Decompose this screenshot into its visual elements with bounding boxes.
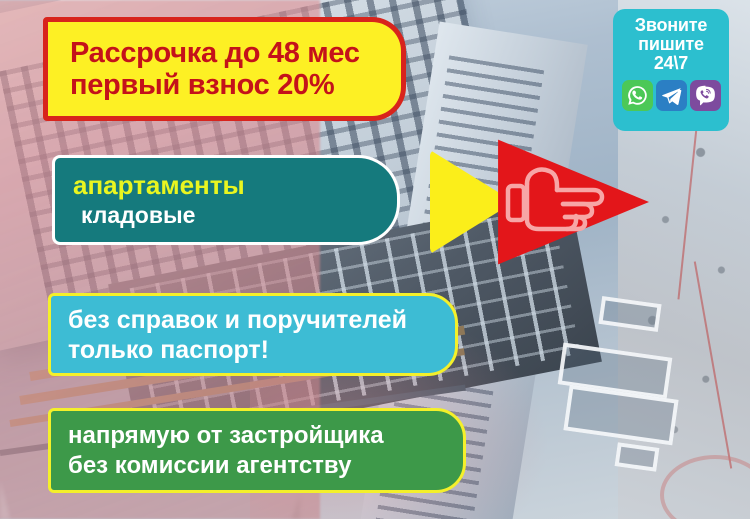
contact-line1: Звоните bbox=[635, 16, 707, 35]
terms-box: без справок и поручителей только паспорт… bbox=[48, 293, 458, 376]
messenger-icon-row bbox=[622, 80, 721, 111]
contact-line3: 24\7 bbox=[654, 54, 688, 73]
developer-line1: напрямую от застройщика bbox=[68, 421, 463, 450]
terms-line2: только паспорт! bbox=[68, 335, 455, 365]
property-type-apartments: апартаменты bbox=[73, 171, 397, 201]
property-types-box: апартаменты кладовые bbox=[52, 155, 400, 245]
offer-banner-line1: Рассрочка до 48 мес bbox=[70, 37, 401, 69]
terms-line1: без справок и поручителей bbox=[68, 305, 455, 335]
telegram-icon[interactable] bbox=[656, 80, 687, 111]
offer-banner: Рассрочка до 48 мес первый взнос 20% bbox=[43, 17, 406, 121]
developer-line2: без комиссии агентству bbox=[68, 451, 463, 480]
viber-icon[interactable] bbox=[690, 80, 721, 111]
property-type-storage: кладовые bbox=[73, 201, 397, 230]
contact-card[interactable]: Звоните пишите 24\7 bbox=[613, 9, 729, 131]
offer-banner-line2: первый взнос 20% bbox=[70, 69, 401, 101]
developer-box: напрямую от застройщика без комиссии аге… bbox=[48, 408, 466, 493]
whatsapp-icon[interactable] bbox=[622, 80, 653, 111]
pointing-hand-right-icon bbox=[505, 162, 605, 234]
real-estate-ad-banner: Рассрочка до 48 мес первый взнос 20% апа… bbox=[0, 0, 750, 519]
contact-line2: пишите bbox=[638, 35, 704, 54]
